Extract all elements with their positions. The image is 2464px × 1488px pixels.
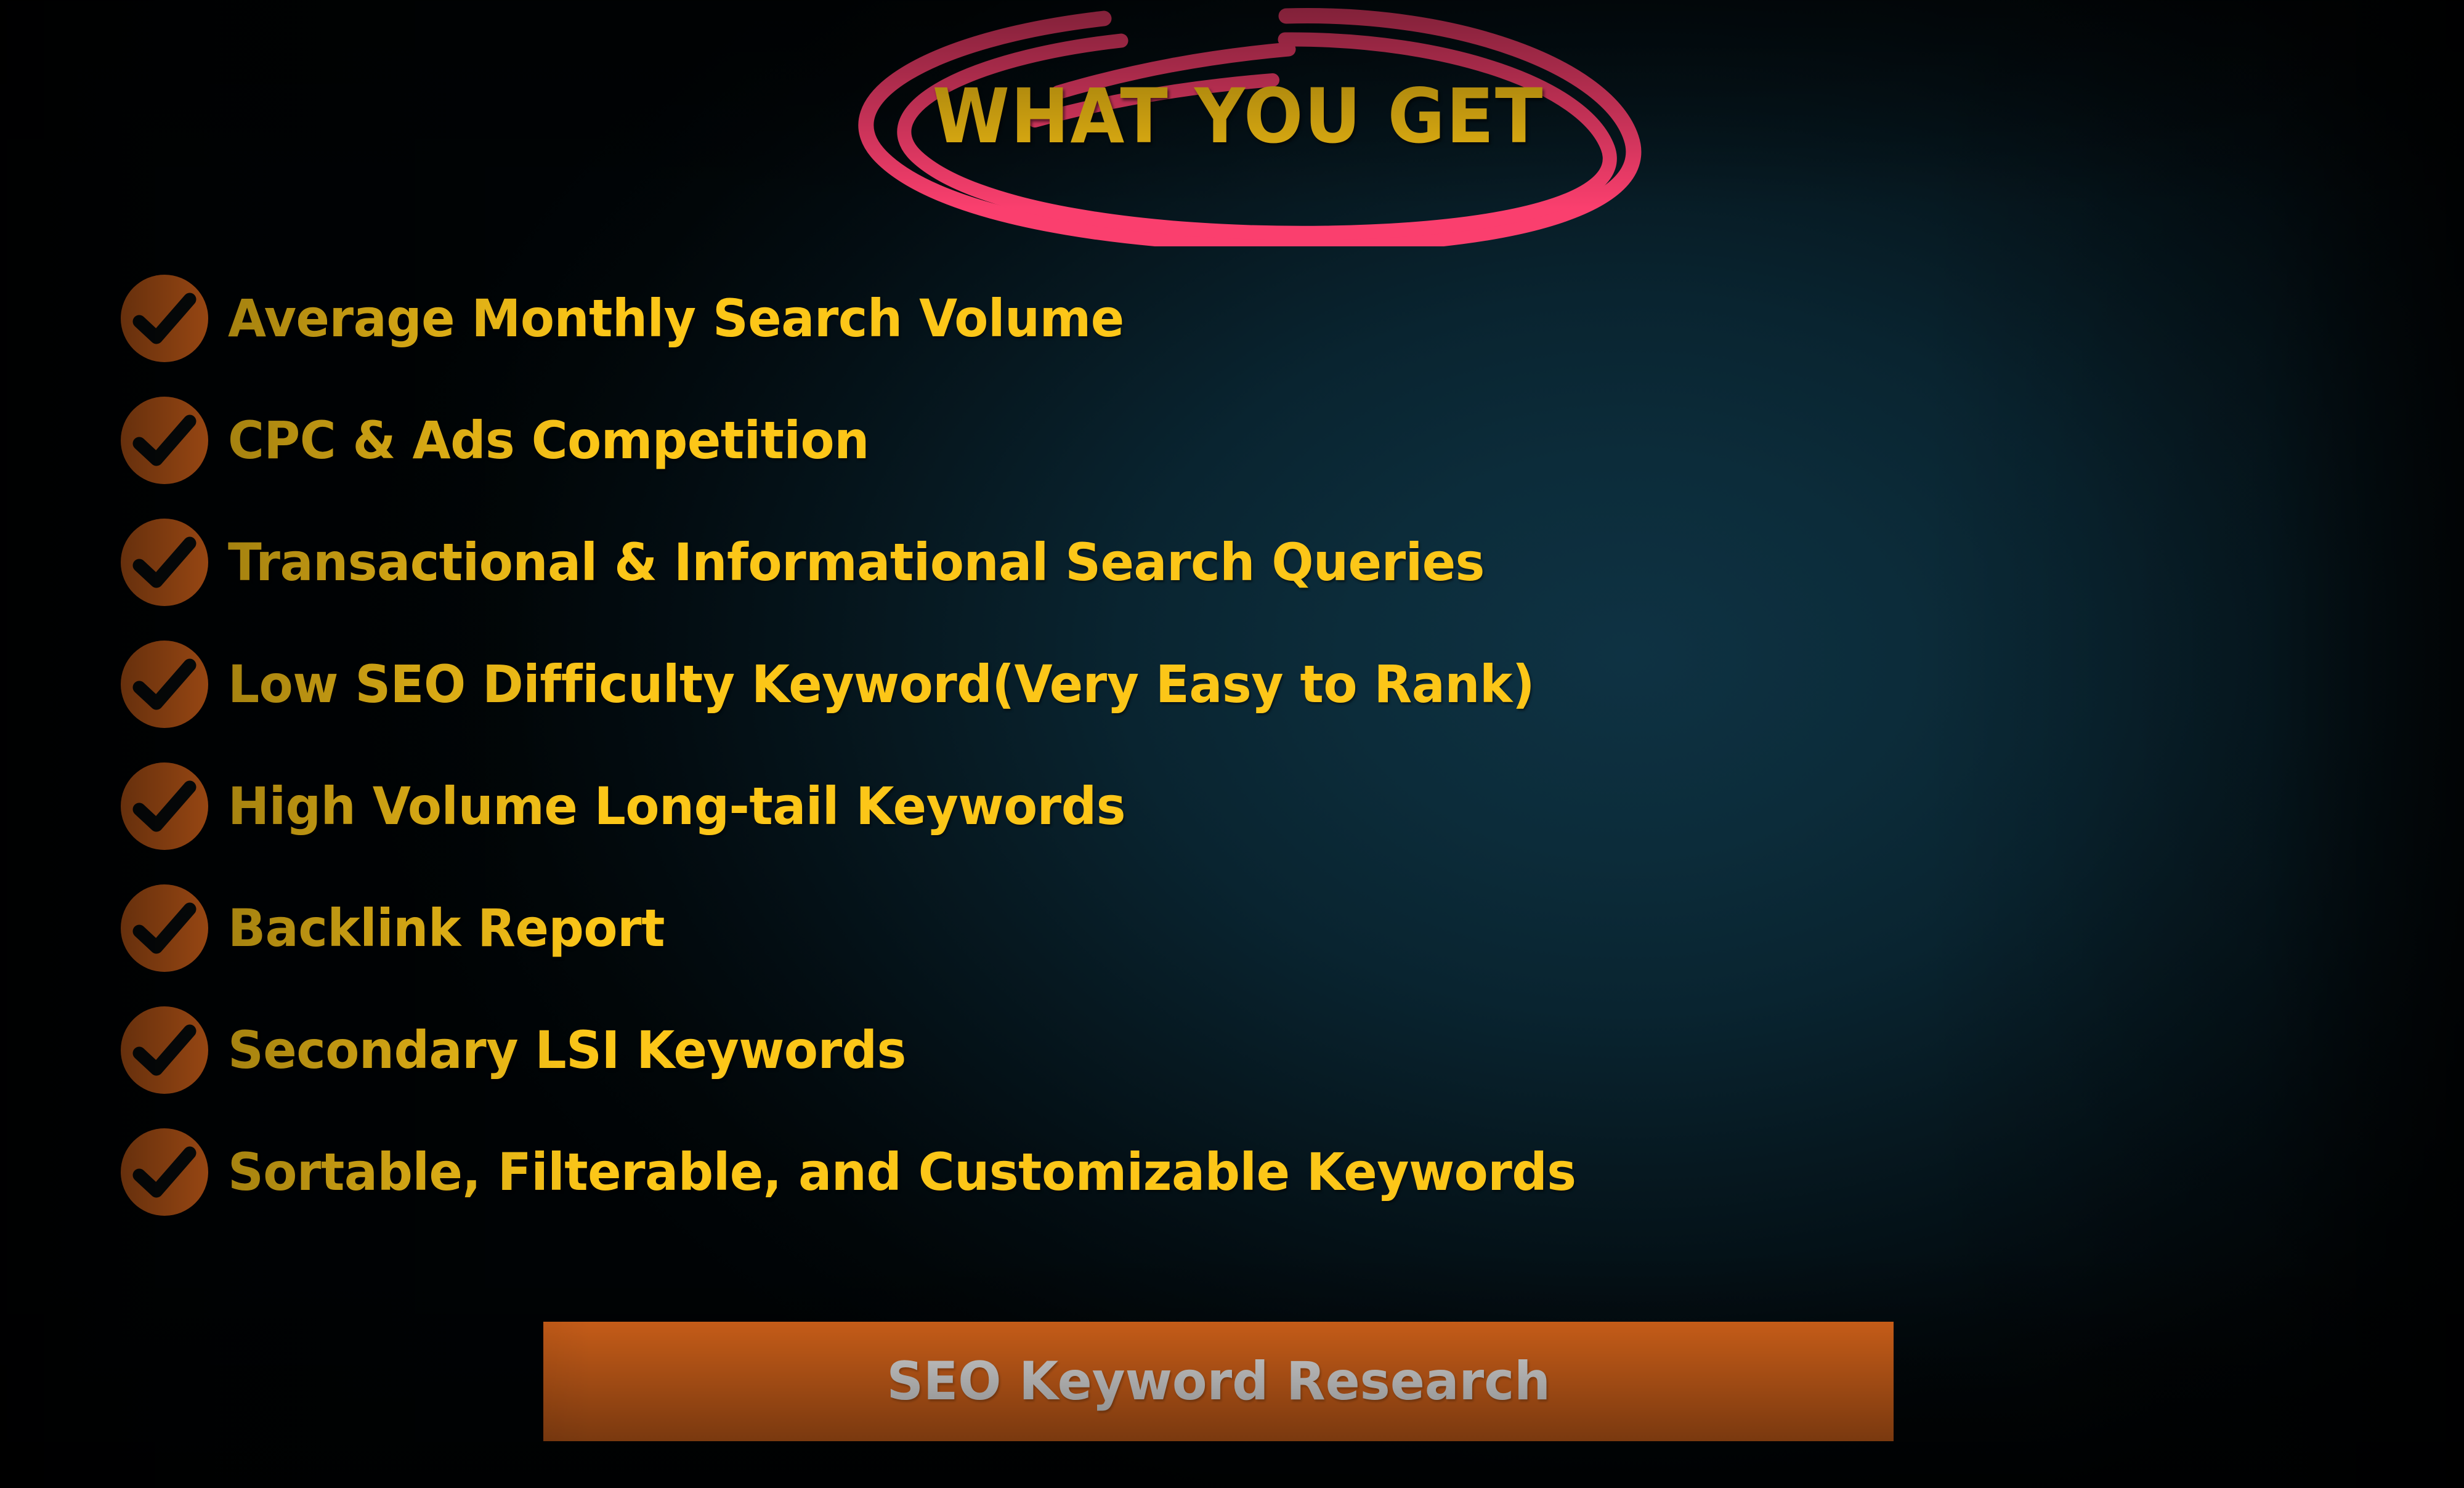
feature-label: Secondary LSI Keywords [228, 1024, 906, 1076]
check-circle-icon [121, 884, 208, 972]
feature-label: CPC & Ads Competition [228, 414, 869, 466]
check-circle-icon [121, 519, 208, 606]
feature-row: Backlink Report [121, 867, 2215, 989]
service-banner[interactable]: SEO Keyword Research [543, 1322, 1894, 1441]
header: WHAT YOU GET [788, 0, 1688, 246]
check-circle-icon [121, 762, 208, 850]
check-circle-icon [121, 641, 208, 728]
check-circle-icon [121, 275, 208, 362]
check-circle-icon [121, 397, 208, 484]
feature-row: Low SEO Difficulty Keyword(Very Easy to … [121, 623, 2215, 745]
feature-label: Average Monthly Search Volume [228, 293, 1124, 344]
feature-label: Backlink Report [228, 902, 665, 954]
feature-row: CPC & Ads Competition [121, 379, 2215, 501]
feature-label: Sortable, Filterable, and Customizable K… [228, 1146, 1576, 1198]
feature-list: Average Monthly Search Volume CPC & Ads … [121, 257, 2215, 1233]
what-you-get-slide: WHAT YOU GET Average Monthly Search Volu… [0, 0, 2464, 1488]
check-circle-icon [121, 1006, 208, 1094]
feature-row: High Volume Long-tail Keywords [121, 745, 2215, 867]
feature-label: Transactional & Informational Search Que… [228, 536, 1485, 588]
feature-row: Transactional & Informational Search Que… [121, 501, 2215, 623]
feature-label: Low SEO Difficulty Keyword(Very Easy to … [228, 658, 1534, 710]
feature-label: High Volume Long-tail Keywords [228, 780, 1125, 832]
feature-row: Average Monthly Search Volume [121, 257, 2215, 379]
feature-row: Secondary LSI Keywords [121, 989, 2215, 1111]
page-title: WHAT YOU GET [820, 79, 1656, 154]
check-circle-icon [121, 1128, 208, 1216]
service-banner-label: SEO Keyword Research [886, 1355, 1550, 1408]
feature-row: Sortable, Filterable, and Customizable K… [121, 1111, 2215, 1233]
